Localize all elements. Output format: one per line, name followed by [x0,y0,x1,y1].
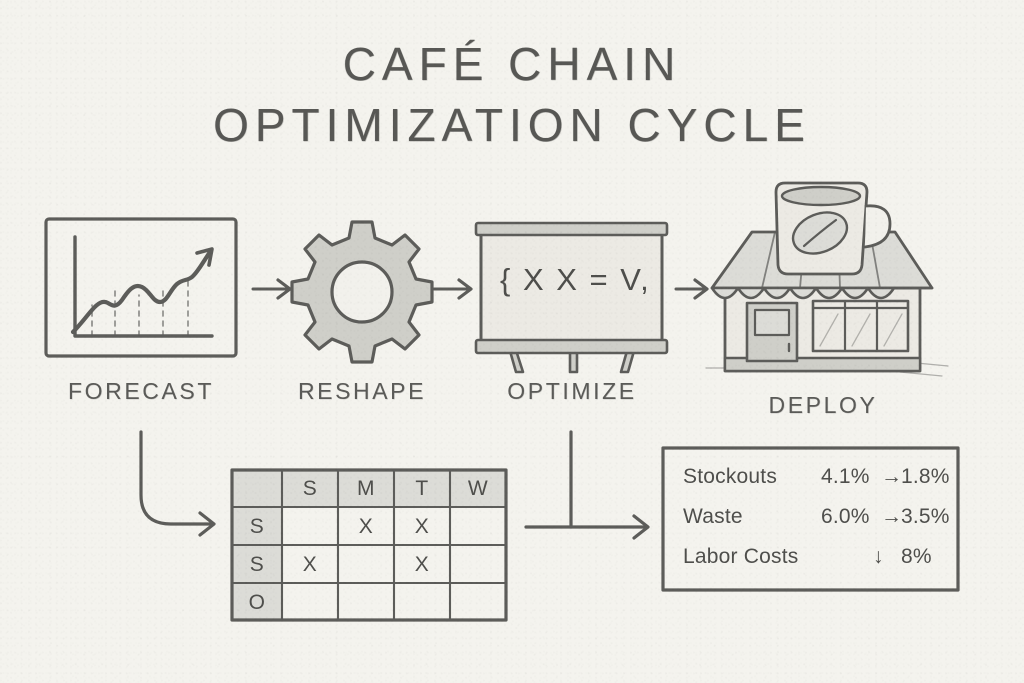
node-label-reshape: RESHAPE [267,378,457,405]
forecast-icon [46,219,236,356]
grid-col-header-s: S [290,477,330,501]
grid-row-label-0: S [237,515,277,539]
grid-cell-0-1: X [346,515,386,539]
connector-optimize-to-deploy [676,280,707,298]
node-label-forecast: FORECAST [46,378,236,405]
grid-col-header-t: T [402,477,442,501]
connector-grid-optimize-to-results [526,432,648,538]
cafe-storefront-icon [706,183,948,376]
cup-rim [782,187,860,205]
connector-forecast-to-grid [141,432,214,535]
grid-col-header-m: M [346,477,386,501]
whiteboard-top-rail [476,223,667,235]
connector-reshape-to-optimize [434,280,471,298]
grid-row-label-2: O [237,591,277,615]
gear-icon [292,222,432,362]
results-metric-1: Waste [683,505,743,529]
node-label-deploy: DEPLOY [728,392,918,419]
whiteboard-bottom-rail [476,340,667,353]
results-arrow-1: → [881,505,902,529]
forecast-trend-line [73,252,210,332]
door-window [755,310,789,335]
diagram-canvas: CAFÉ CHAIN OPTIMIZATION CYCLE [0,0,1024,683]
diagram-artwork [0,0,1024,683]
grid-cell-1-0: X [290,553,330,577]
results-arrow-0: → [881,465,902,489]
results-after-0: 1.8% [901,465,950,489]
results-before-1: 6.0% [821,505,870,529]
node-label-optimize: OPTIMIZE [477,378,667,405]
grid-cell-0-2: X [402,515,442,539]
results-arrow-2: ↓ [873,545,884,569]
grid-cell-1-2: X [402,553,442,577]
results-metric-0: Stockouts [683,465,777,489]
optimize-equation: { X X = V, [500,262,651,298]
results-before-0: 4.1% [821,465,870,489]
grid-row-label-1: S [237,553,277,577]
grid-col-header-w: W [458,477,498,501]
gear-hub [332,262,392,322]
results-after-2: 8% [901,545,932,569]
connector-forecast-to-reshape [253,280,290,298]
results-after-1: 3.5% [901,505,950,529]
results-metric-2: Labor Costs [683,545,798,569]
